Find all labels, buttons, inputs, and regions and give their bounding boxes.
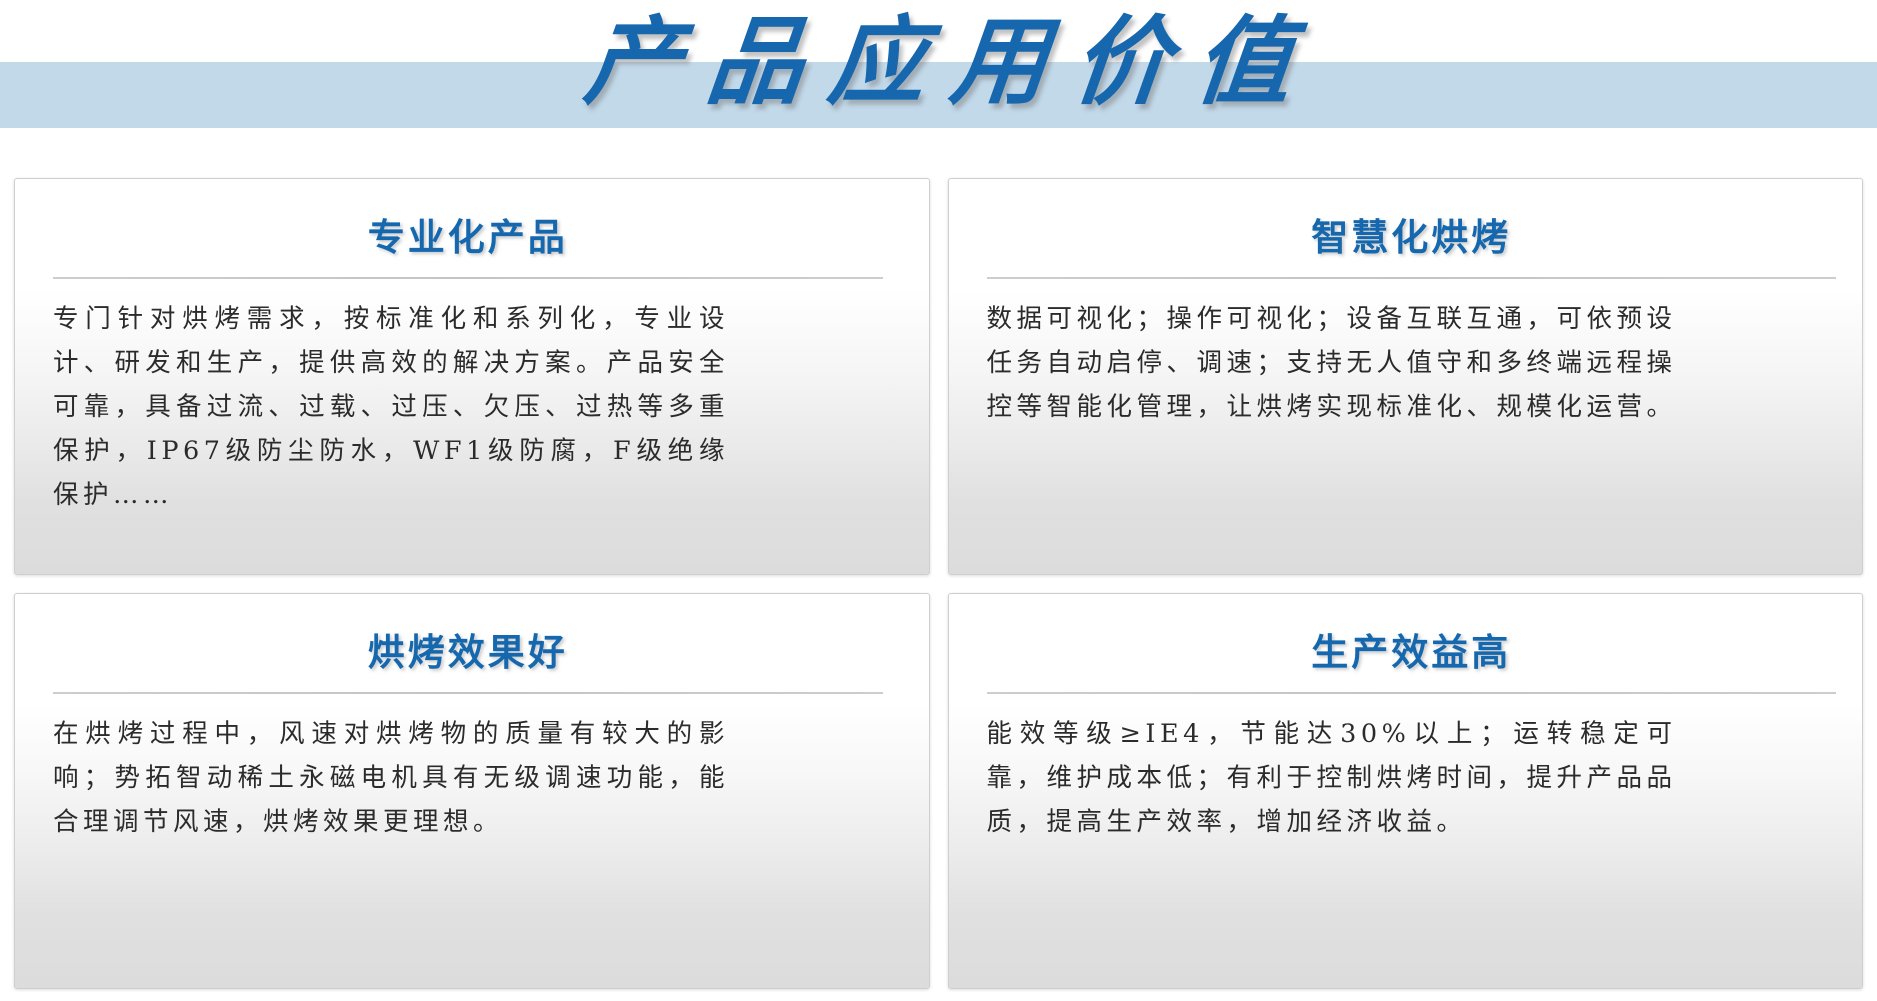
page-root: 产品应用价值 专业化产品 专门针对烘烤需求，按标准化和系列化，专业设计、研发和生… (0, 0, 1877, 1001)
card-title: 专业化产品 (53, 213, 883, 263)
card-title: 烘烤效果好 (53, 628, 883, 678)
value-card-baking-effect: 烘烤效果好 在烘烤过程中，风速对烘烤物的质量有较大的影响；势拓智动稀土永磁电机具… (14, 593, 930, 990)
card-title: 生产效益高 (987, 628, 1837, 678)
card-divider (987, 277, 1837, 279)
value-card-production-benefit: 生产效益高 能效等级≥IE4，节能达30%以上；运转稳定可靠，维护成本低；有利于… (948, 593, 1864, 990)
value-card-grid: 专业化产品 专门针对烘烤需求，按标准化和系列化，专业设计、研发和生产，提供高效的… (0, 150, 1877, 1001)
card-body-text: 在烘烤过程中，风速对烘烤物的质量有较大的影响；势拓智动稀土永磁电机具有无级调速功… (53, 712, 729, 844)
card-divider (53, 277, 883, 279)
card-title: 智慧化烘烤 (987, 213, 1837, 263)
card-divider (53, 692, 883, 694)
page-header: 产品应用价值 (0, 0, 1877, 150)
page-title: 产品应用价值 (0, 0, 1877, 124)
card-body-text: 专门针对烘烤需求，按标准化和系列化，专业设计、研发和生产，提供高效的解决方案。产… (53, 297, 729, 517)
value-card-smart-baking: 智慧化烘烤 数据可视化；操作可视化；设备互联互通，可依预设任务自动启停、调速；支… (948, 178, 1864, 575)
card-body-text: 能效等级≥IE4，节能达30%以上；运转稳定可靠，维护成本低；有利于控制烘烤时间… (987, 712, 1677, 844)
card-divider (987, 692, 1837, 694)
value-card-professional-product: 专业化产品 专门针对烘烤需求，按标准化和系列化，专业设计、研发和生产，提供高效的… (14, 178, 930, 575)
card-body-text: 数据可视化；操作可视化；设备互联互通，可依预设任务自动启停、调速；支持无人值守和… (987, 297, 1677, 429)
